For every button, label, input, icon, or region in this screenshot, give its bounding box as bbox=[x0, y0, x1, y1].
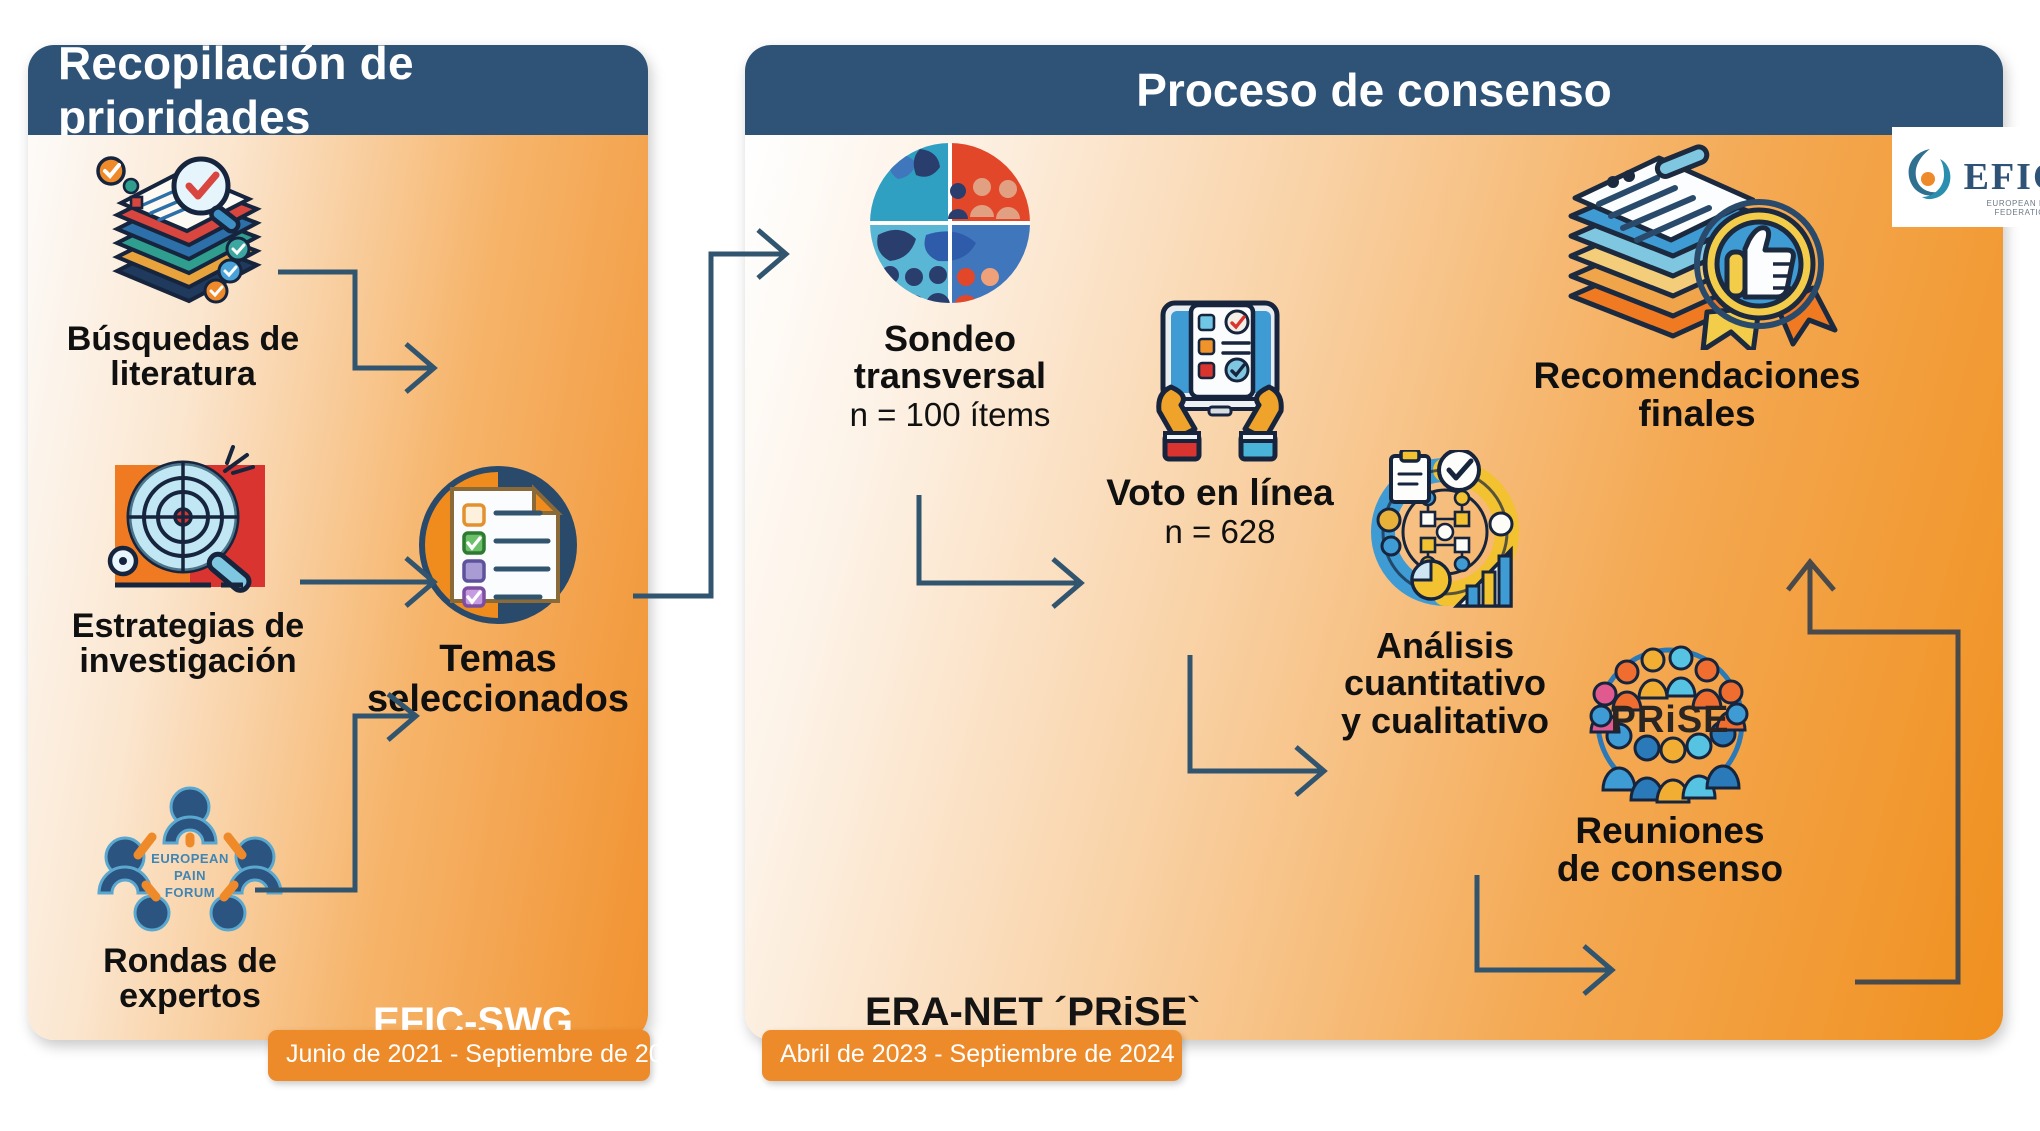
node-research-strategies-label: Estrategias de investigación bbox=[48, 609, 328, 680]
efic-swirl-icon bbox=[1900, 145, 1958, 209]
efic-tagline: EUROPEAN PAIN FEDERATION bbox=[1984, 199, 2040, 217]
node-literature-searches: Búsquedas de literatura bbox=[38, 145, 328, 393]
project-tag-era-net-prise: ERA-NET ´PRiSE` bbox=[865, 990, 1201, 1035]
node-selected-topics-label: Temas seleccionados bbox=[333, 640, 663, 719]
infographic-canvas: Recopilación de prioridades bbox=[0, 0, 2040, 1131]
panel-priorities-header: Recopilación de prioridades bbox=[28, 45, 648, 135]
date-badge-consensus: Abril de 2023 - Septiembre de 2024 bbox=[762, 1030, 1182, 1081]
node-final-recommendations-label: Recomendaciones finales bbox=[1487, 357, 1907, 434]
node-research-strategies: Estrategias de investigación bbox=[48, 445, 328, 680]
node-literature-searches-label: Búsquedas de literatura bbox=[38, 322, 328, 393]
document-stack-award-icon bbox=[1487, 100, 1907, 355]
svg-text:PAIN: PAIN bbox=[174, 868, 206, 883]
analytics-cycle-chart-icon bbox=[1280, 450, 1610, 623]
panel-priorities: Recopilación de prioridades bbox=[28, 45, 648, 1040]
svg-text:FORUM: FORUM bbox=[165, 885, 215, 900]
panel-priorities-title: Recopilación de prioridades bbox=[58, 45, 648, 144]
efic-logo: EFIC EUROPEAN PAIN FEDERATION bbox=[1892, 127, 2040, 227]
panel-consensus: Proceso de consenso EFIC EUROPEAN PAIN F… bbox=[745, 45, 2003, 1040]
date-badge-priorities: Junio de 2021 - Septiembre de 2022 bbox=[268, 1030, 650, 1081]
node-consensus-meetings: PRiSE Reuniones de consenso bbox=[1505, 640, 1835, 889]
checklist-circle-icon bbox=[333, 455, 663, 640]
target-magnifier-icon bbox=[48, 445, 328, 605]
node-final-recommendations: Recomendaciones finales bbox=[1487, 100, 1907, 434]
svg-text:EUROPEAN: EUROPEAN bbox=[151, 851, 229, 866]
prise-people-circle-logo: PRiSE bbox=[1505, 640, 1835, 810]
prise-wordmark: PRiSE bbox=[1610, 699, 1729, 741]
node-selected-topics: Temas seleccionados bbox=[333, 455, 663, 719]
node-expert-rounds: EUROPEAN PAIN FORUM Rondas de expertos bbox=[50, 785, 330, 1015]
european-pain-forum-logo: EUROPEAN PAIN FORUM bbox=[50, 785, 330, 940]
hands-tablet-survey-icon bbox=[1055, 295, 1385, 470]
node-expert-rounds-label: Rondas de expertos bbox=[50, 944, 330, 1015]
globe-people-icon bbox=[800, 135, 1100, 316]
efic-wordmark: EFIC bbox=[1964, 158, 2040, 196]
stacked-documents-magnifier-icon bbox=[38, 145, 328, 320]
node-consensus-meetings-label: Reuniones de consenso bbox=[1505, 812, 1835, 889]
